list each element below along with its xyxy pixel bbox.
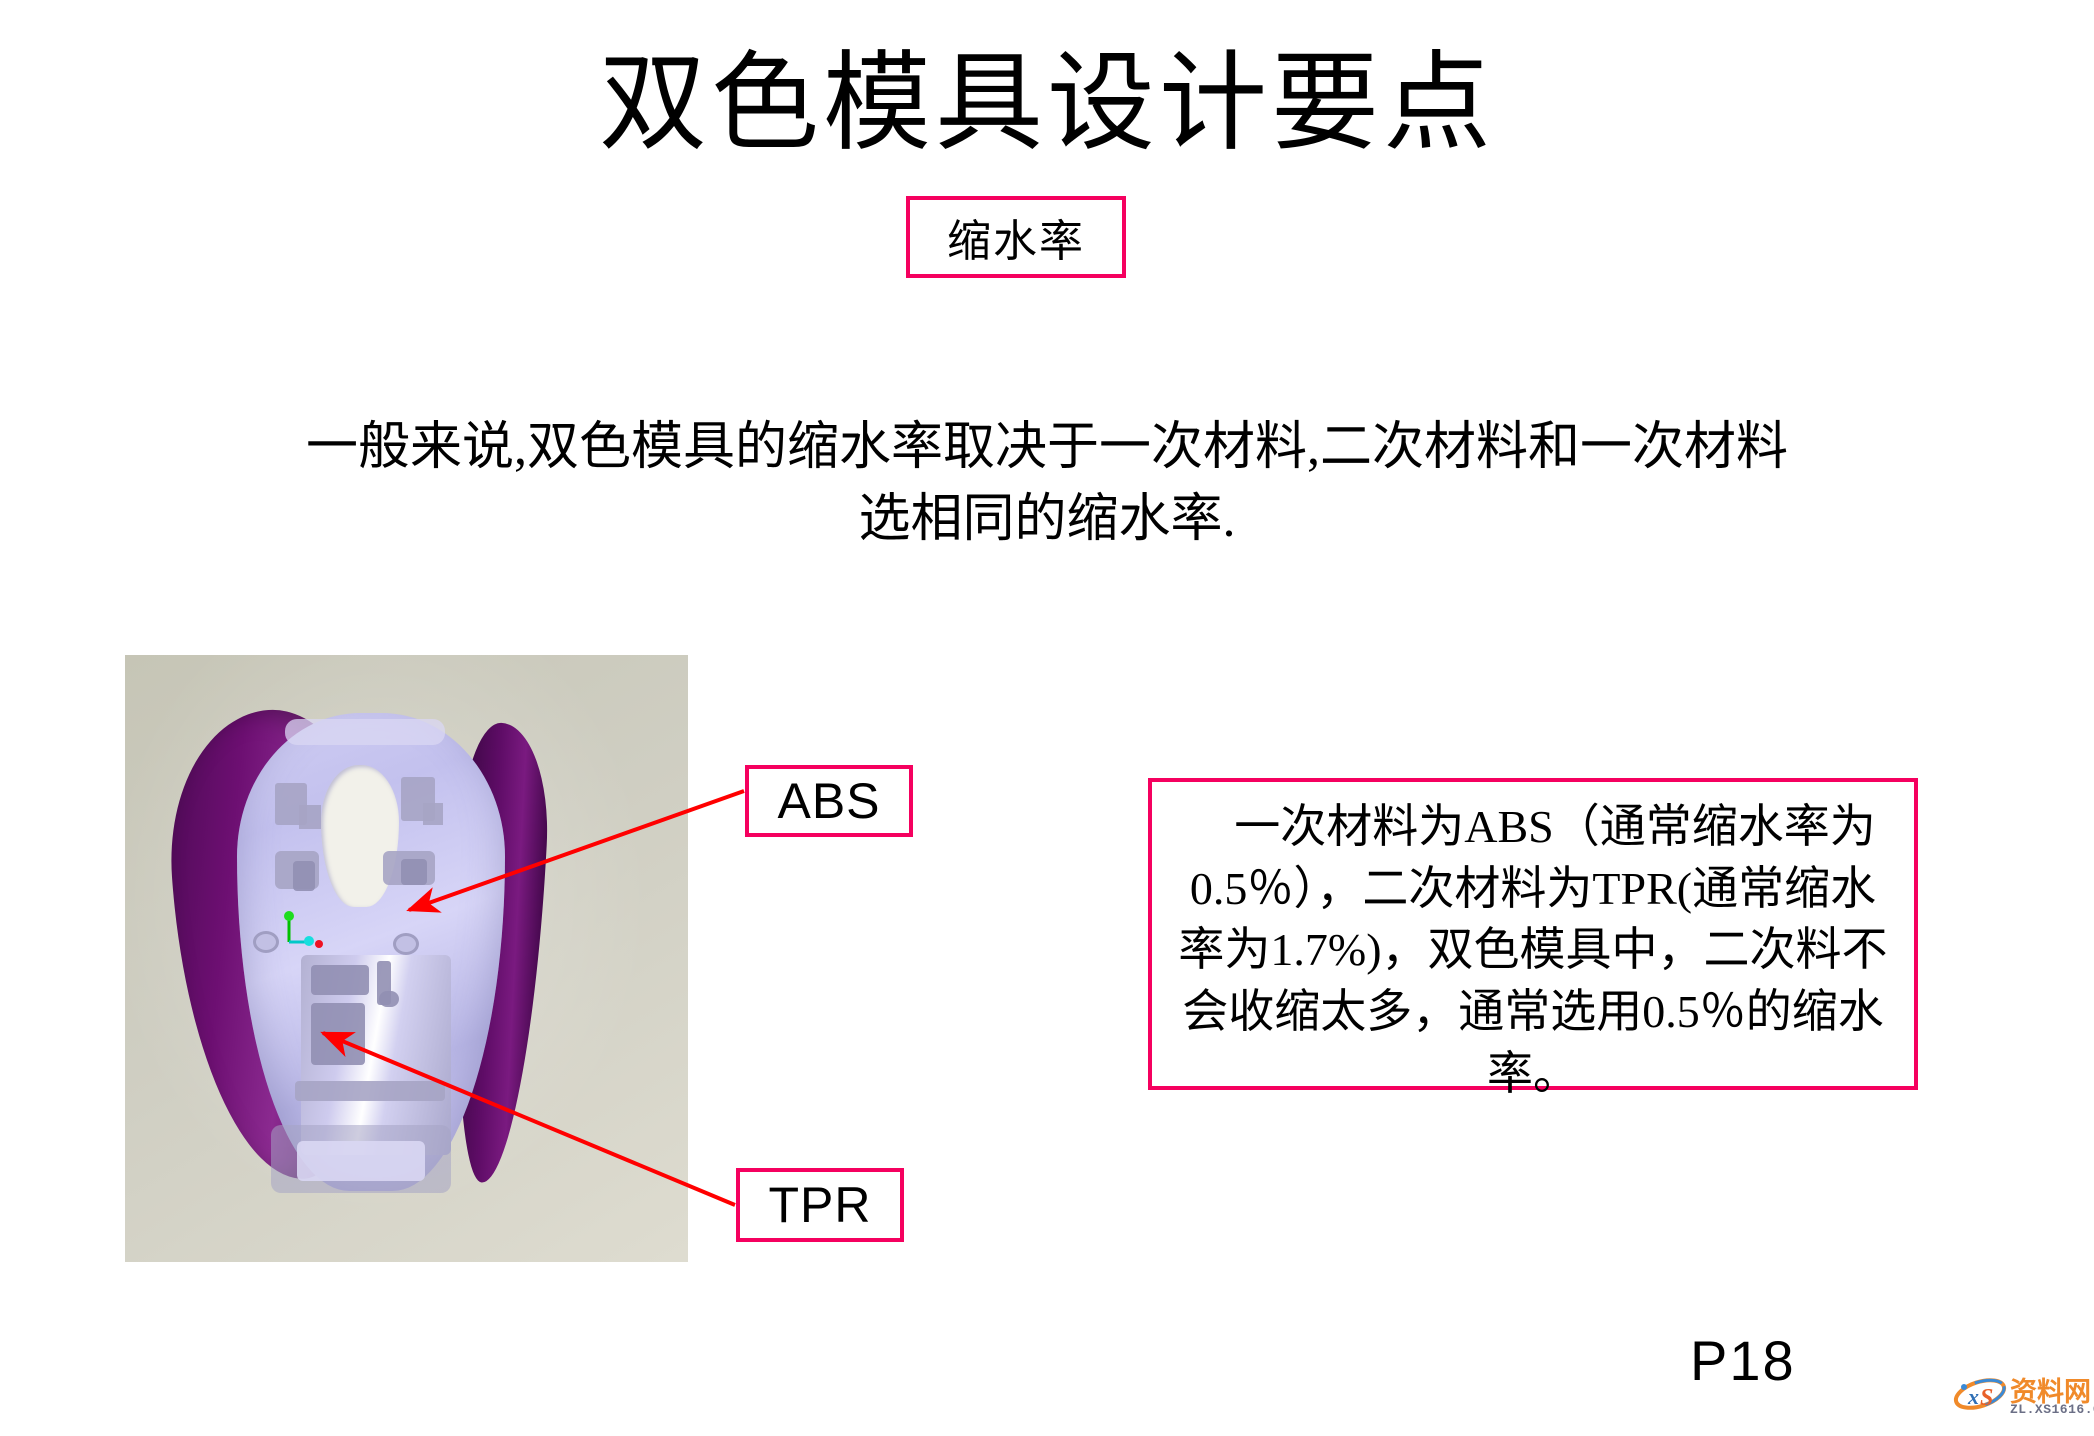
watermark-url: ZL.XS1616.COM — [2010, 1402, 2094, 1417]
explanation-callout-box: 一次材料为ABS（通常缩水率为0.5％），二次材料为TPR(通常缩水率为1.7%… — [1148, 778, 1918, 1090]
svg-text:x: x — [1967, 1384, 1979, 1409]
intro-paragraph: 一般来说,双色模具的缩水率取决于一次材料,二次材料和一次材料选相同的缩水率. — [297, 412, 1797, 556]
abs-top-cutout — [321, 765, 399, 907]
coordinate-axis-triad — [283, 908, 325, 950]
cad-render-figure — [125, 655, 688, 1262]
page-number: P18 — [1690, 1328, 1796, 1393]
abs-rib-6 — [293, 861, 315, 891]
abs-material-label-box: ABS — [745, 765, 913, 837]
explanation-text: 一次材料为ABS（通常缩水率为0.5％），二次材料为TPR(通常缩水率为1.7%… — [1178, 796, 1888, 1104]
watermark: x S 资料网 ZL.XS1616.COM — [1952, 1368, 2086, 1426]
abs-top-band — [285, 719, 445, 745]
screw-boss-right — [393, 933, 419, 955]
page-title: 双色模具设计要点 — [0, 48, 2094, 162]
svg-text:S: S — [1980, 1385, 1993, 1411]
mech-ledge — [295, 1081, 445, 1101]
abs-bottom-window — [297, 1141, 425, 1181]
tpr-material-label-box: TPR — [736, 1168, 904, 1242]
mech-block-2 — [311, 1003, 365, 1065]
tpr-label-text: TPR — [769, 1176, 872, 1234]
screw-boss-left — [253, 931, 279, 953]
subtitle-label: 缩水率 — [947, 205, 1085, 269]
abs-rib-4 — [423, 803, 443, 825]
abs-rib-2 — [299, 805, 321, 829]
subtitle-callout-box: 缩水率 — [906, 196, 1126, 278]
abs-rib-8 — [401, 859, 427, 885]
abs-label-text: ABS — [777, 772, 880, 830]
mech-block-4 — [379, 991, 399, 1007]
mech-block-1 — [311, 965, 369, 995]
xs-logo-icon: x S — [1952, 1374, 2008, 1414]
